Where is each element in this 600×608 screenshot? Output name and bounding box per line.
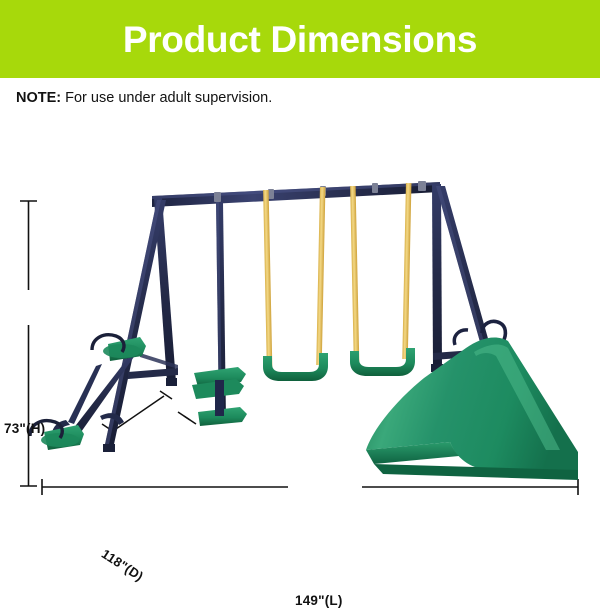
standing-swing xyxy=(192,202,247,426)
top-rail xyxy=(152,182,440,207)
header-banner: Product Dimensions xyxy=(0,0,600,78)
height-dimension-line xyxy=(20,201,37,486)
length-dimension-line xyxy=(42,479,578,495)
note-line: NOTE: For use under adult supervision. xyxy=(16,88,272,108)
belt-swing-right xyxy=(350,183,415,376)
belt-swing-left xyxy=(263,187,328,381)
swing-set-illustration xyxy=(0,120,600,600)
page-title: Product Dimensions xyxy=(123,21,477,58)
note-label: NOTE: xyxy=(16,90,61,106)
height-dimension-label: 73"(H) xyxy=(4,421,45,436)
product-dimensions-page: Product Dimensions NOTE: For use under a… xyxy=(0,0,600,600)
product-diagram: 73"(H) 118"(D) 149"(L) xyxy=(0,120,600,600)
wave-slide xyxy=(366,321,578,480)
seesaw-glider xyxy=(30,335,146,450)
length-dimension-label: 149"(L) xyxy=(295,593,343,608)
note-text: For use under adult supervision. xyxy=(61,90,272,106)
